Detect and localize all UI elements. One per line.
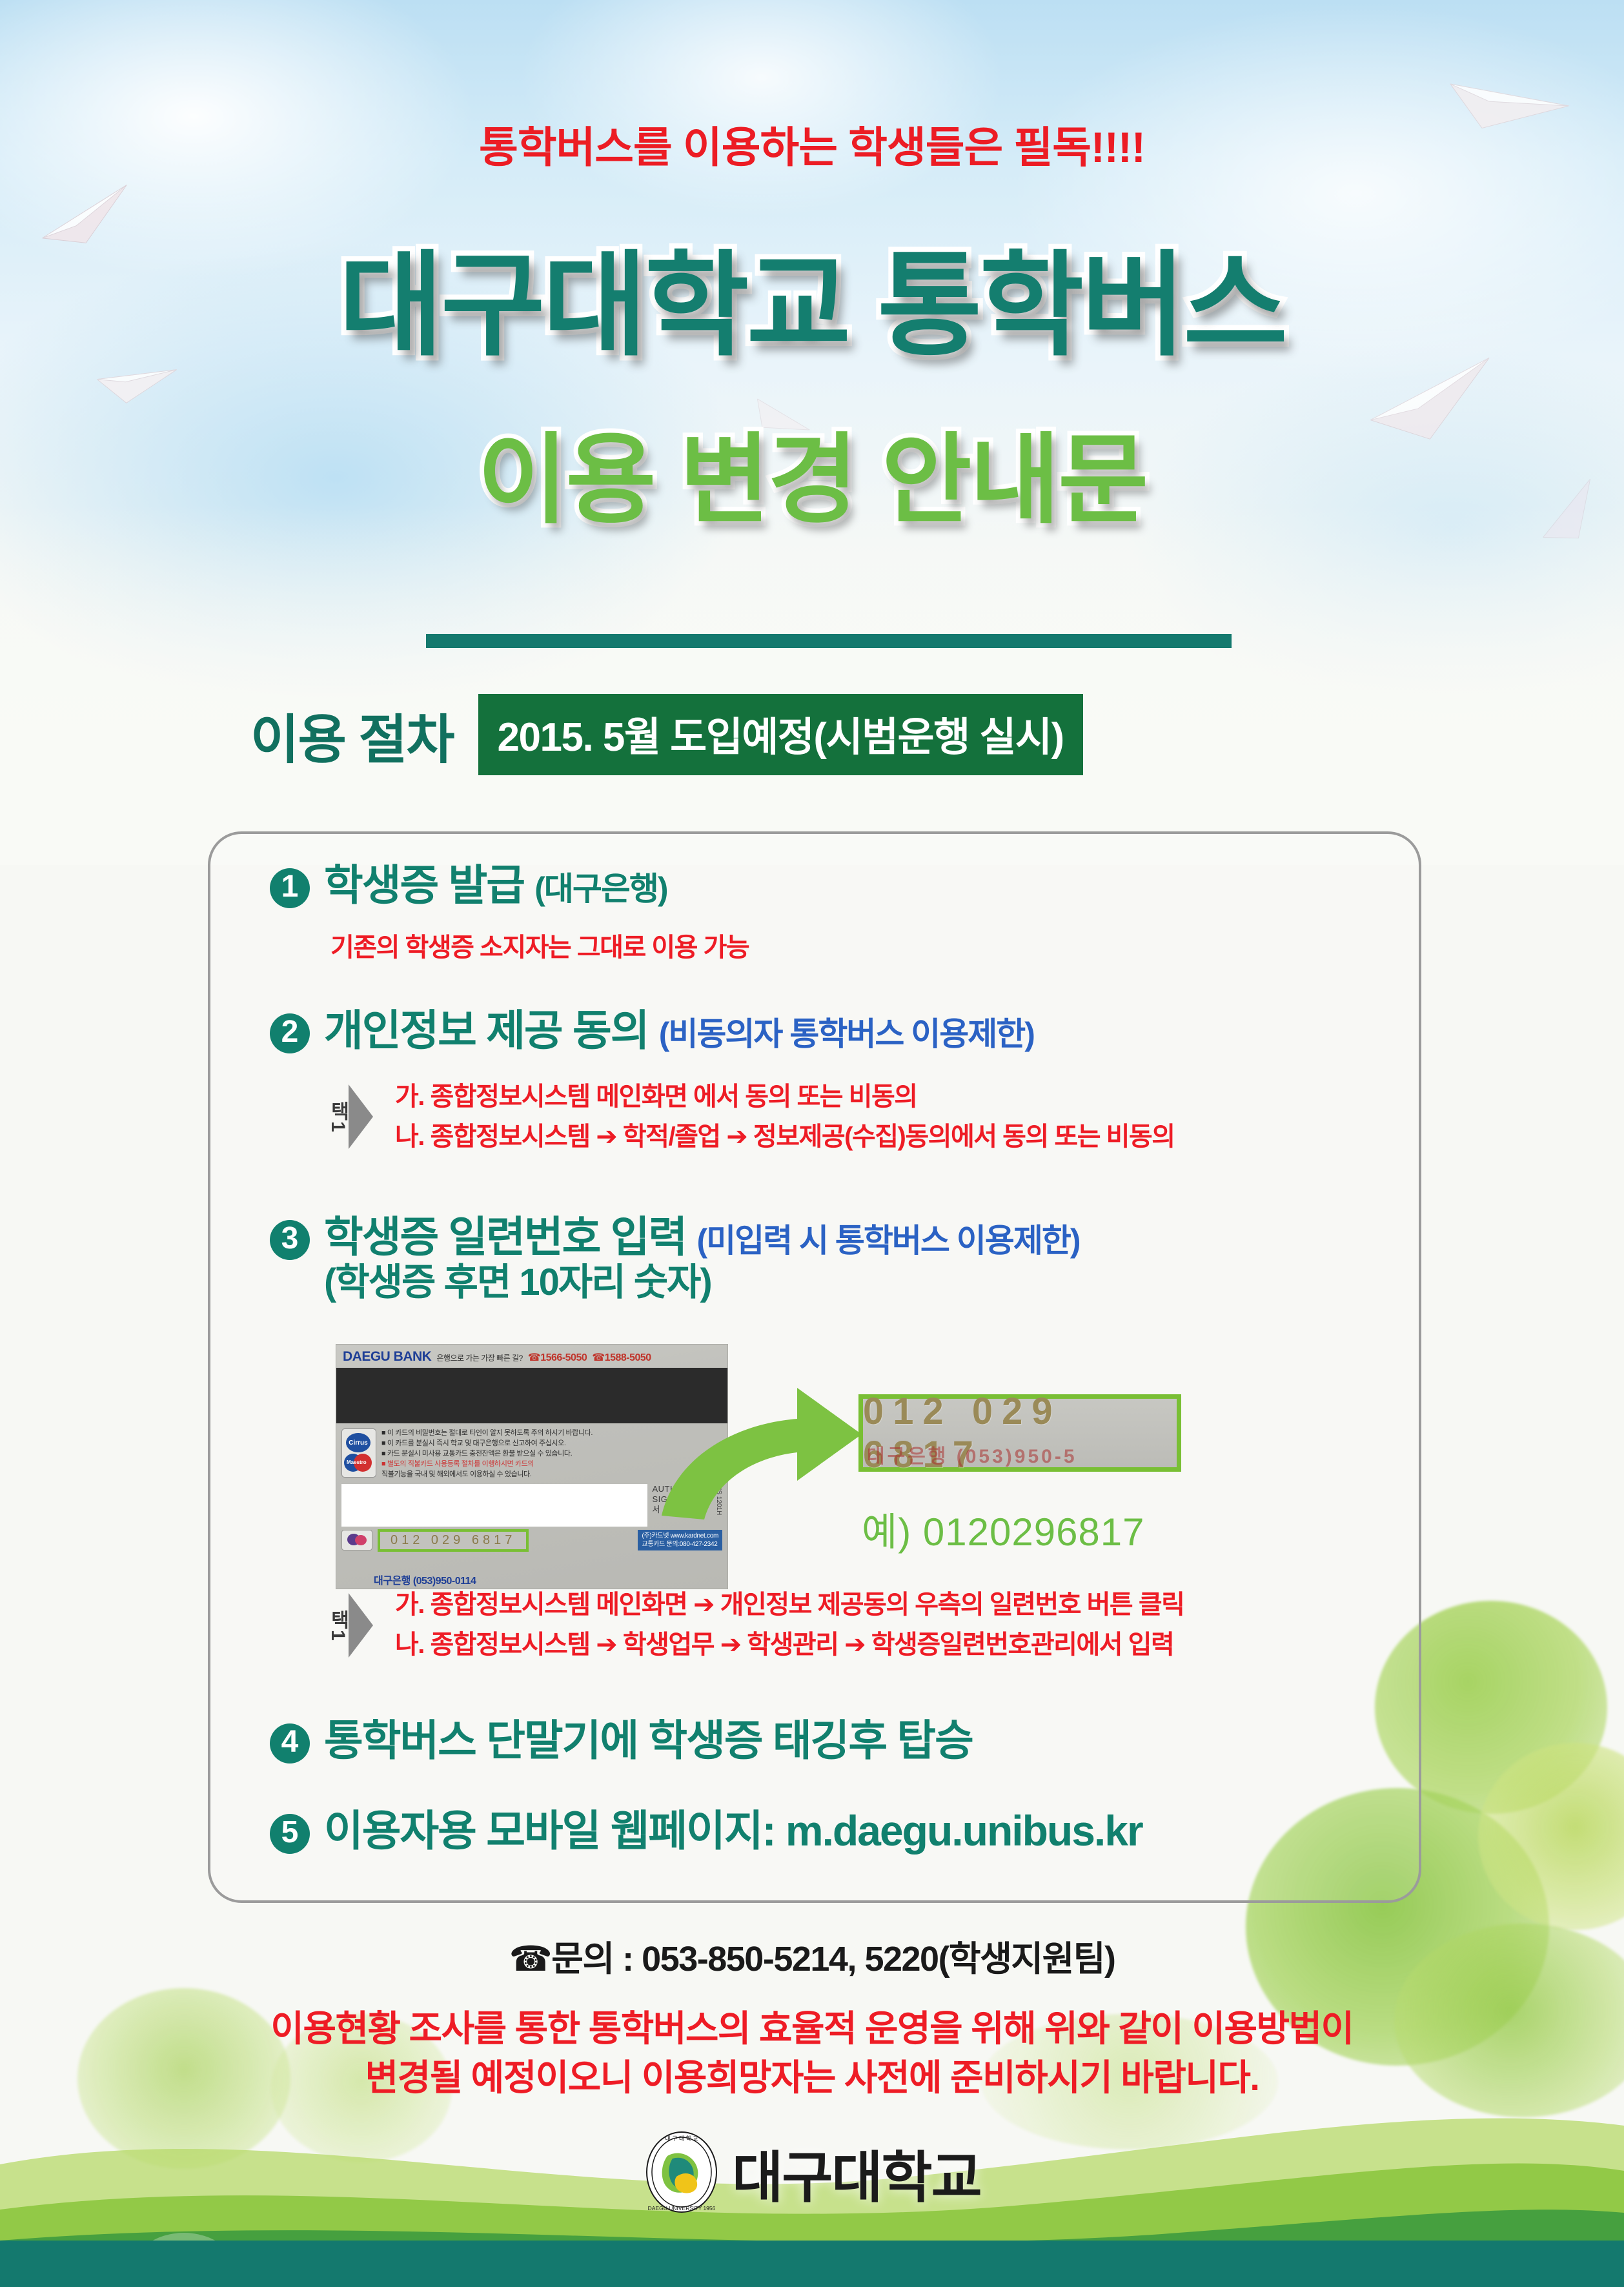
step-item-5: 5 이용자용 모바일 웹페이지: m.daegu.unibus.kr	[270, 1807, 1142, 1855]
step-3-title: 학생증 일련번호 입력	[324, 1213, 686, 1261]
bank-slogan: 은행으로 가는 가장 빠른 길?	[436, 1352, 522, 1363]
step-item-4: 4 통학버스 단말기에 학생증 태깅후 탑승	[270, 1717, 973, 1764]
kicker-text: 통학버스를 이용하는 학생들은 필독!!!!	[0, 113, 1624, 175]
svg-text:대 구 대 학 교: 대 구 대 학 교	[665, 2135, 698, 2142]
step-1-subnote: 기존의 학생증 소지자는 그대로 이용 가능	[330, 926, 749, 964]
contact-line: ☎문의 : 053-850-5214, 5220(학생지원팀)	[0, 1930, 1624, 1981]
university-logo-lockup: 대 구 대 학 교 DAEGU UNIVERSITY 1956 대구대학교	[0, 2130, 1624, 2214]
step-heading-5[interactable]: 이용자용 모바일 웹페이지: m.daegu.unibus.kr	[324, 1807, 1142, 1855]
step-number-badge: 4	[270, 1723, 310, 1764]
step-number-2: 2	[281, 1017, 299, 1048]
step-number-1: 1	[281, 871, 299, 902]
serial-example-text: 예) 0120296817	[862, 1501, 1145, 1557]
network-logo-chip: Cirrus Maestro	[341, 1428, 376, 1478]
bank-tel-2: ☎1588-5050	[592, 1351, 651, 1364]
step-number-3: 3	[281, 1223, 299, 1254]
step-number-badge: 1	[270, 868, 310, 908]
page-subtitle: 이용 변경 안내문	[0, 400, 1624, 542]
pick-one-label: 택1	[328, 1610, 349, 1642]
pick-one-marker-2: 택1	[328, 1084, 373, 1149]
step-3-subtitle: (학생증 후면 10자리 숫자)	[324, 1262, 1079, 1303]
step-2-options: 가. 종합정보시스템 메인화면 에서 동의 또는 비동의 나. 종합정보시스템 …	[395, 1077, 1175, 1157]
step-item-1: 1 학생증 발급 (대구은행)	[270, 862, 667, 909]
step-2-title: 개인정보 제공 동의	[324, 1006, 648, 1054]
pick-one-marker-3: 택1	[328, 1593, 373, 1658]
curved-arrow-icon	[649, 1362, 868, 1523]
step-item-3: 3 학생증 일련번호 입력 (미입력 시 통학버스 이용제한) (학생증 후면 …	[270, 1214, 1079, 1303]
serial-number-zoom: 012 029 6817 대구은행 (053)950-5	[858, 1394, 1181, 1472]
sky-fade-overlay	[0, 503, 1624, 865]
status-badge: 2015. 5월 도입예정(시범운행 실시)	[478, 694, 1083, 775]
step-1-title: 학생증 발급	[324, 861, 524, 909]
step-item-2: 2 개인정보 제공 동의 (비동의자 통학버스 이용제한)	[270, 1007, 1034, 1054]
section-header: 이용 절차 2015. 5월 도입예정(시범운행 실시)	[250, 694, 1083, 775]
svg-text:DAEGU UNIVERSITY 1956: DAEGU UNIVERSITY 1956	[648, 2205, 716, 2211]
step-number-badge: 3	[270, 1220, 310, 1260]
triangle-icon	[349, 1593, 373, 1658]
step-number-4: 4	[281, 1727, 299, 1758]
step-2-note: (비동의자 통학버스 이용제한)	[659, 1016, 1034, 1052]
step-number-5: 5	[281, 1817, 299, 1848]
debit-card-icon	[341, 1530, 372, 1550]
poster-canvas: 통학버스를 이용하는 학생들은 필독!!!! 대구대학교 통학버스 이용 변경 …	[0, 0, 1624, 2287]
page-title: 대구대학교 통학버스	[0, 213, 1624, 378]
step-heading-1: 학생증 발급 (대구은행)	[324, 862, 667, 909]
title-divider	[426, 634, 1232, 648]
step-heading-3: 학생증 일련번호 입력 (미입력 시 통학버스 이용제한) (학생증 후면 10…	[324, 1214, 1079, 1303]
section-title: 이용 절차	[250, 696, 454, 773]
footer-bar	[0, 2241, 1624, 2287]
step-2-option-a: 가. 종합정보시스템 메인화면 에서 동의 또는 비동의	[395, 1077, 1175, 1117]
university-wordmark: 대구대학교	[732, 2132, 981, 2213]
step-3-note: (미입력 시 통학버스 이용제한)	[697, 1223, 1080, 1259]
step-heading-4: 통학버스 단말기에 학생증 태깅후 탑승	[324, 1717, 973, 1764]
step-3-options: 가. 종합정보시스템 메인화면 ➔ 개인정보 제공동의 우측의 일련번호 버튼 …	[395, 1585, 1184, 1665]
cirrus-icon: Cirrus	[346, 1433, 370, 1452]
step-number-badge: 5	[270, 1814, 310, 1854]
triangle-icon	[349, 1084, 373, 1149]
step-number-badge: 2	[270, 1013, 310, 1053]
cardnet-label: (주)카드넷 www.kardnet.com교통카드 문의:080-427-23…	[638, 1530, 722, 1550]
step-2-option-b: 나. 종합정보시스템 ➔ 학적/졸업 ➔ 정보제공(수집)동의에서 동의 또는 …	[395, 1117, 1175, 1157]
step-3-option-a: 가. 종합정보시스템 메인화면 ➔ 개인정보 제공동의 우측의 일련번호 버튼 …	[395, 1585, 1184, 1625]
notice-line-2: 변경될 예정이오니 이용희망자는 사전에 준비하시기 바랍니다.	[0, 2053, 1624, 2102]
step-heading-2: 개인정보 제공 동의 (비동의자 통학버스 이용제한)	[324, 1007, 1034, 1054]
card-serial-highlight: 012 029 6817	[378, 1529, 529, 1552]
step-3-option-b: 나. 종합정보시스템 ➔ 학생업무 ➔ 학생관리 ➔ 학생증일련번호관리에서 입…	[395, 1625, 1184, 1665]
step-1-note: (대구은행)	[534, 871, 667, 907]
pick-one-label: 택1	[328, 1101, 349, 1133]
maestro-icon: Maestro	[344, 1454, 372, 1473]
maestro-label: Maestro	[347, 1459, 367, 1465]
university-emblem-icon: 대 구 대 학 교 DAEGU UNIVERSITY 1956	[643, 2130, 720, 2214]
signature-strip	[341, 1484, 647, 1527]
card-network-logos: Cirrus Maestro	[341, 1428, 376, 1480]
serial-ghost-text: 대구은행 (053)950-5	[867, 1440, 1177, 1469]
bank-brand-label: DAEGU BANK	[343, 1349, 431, 1365]
notice-line-1: 이용현황 조사를 통한 통학버스의 효율적 운영을 위해 위와 같이 이용방법이	[0, 2004, 1624, 2053]
footer-notice: 이용현황 조사를 통한 통학버스의 효율적 운영을 위해 위와 같이 이용방법이…	[0, 2004, 1624, 2102]
card-bottom-row: 012 029 6817 (주)카드넷 www.kardnet.com교통카드 …	[336, 1527, 727, 1552]
bank-tel-1: ☎1566-5050	[528, 1351, 587, 1364]
